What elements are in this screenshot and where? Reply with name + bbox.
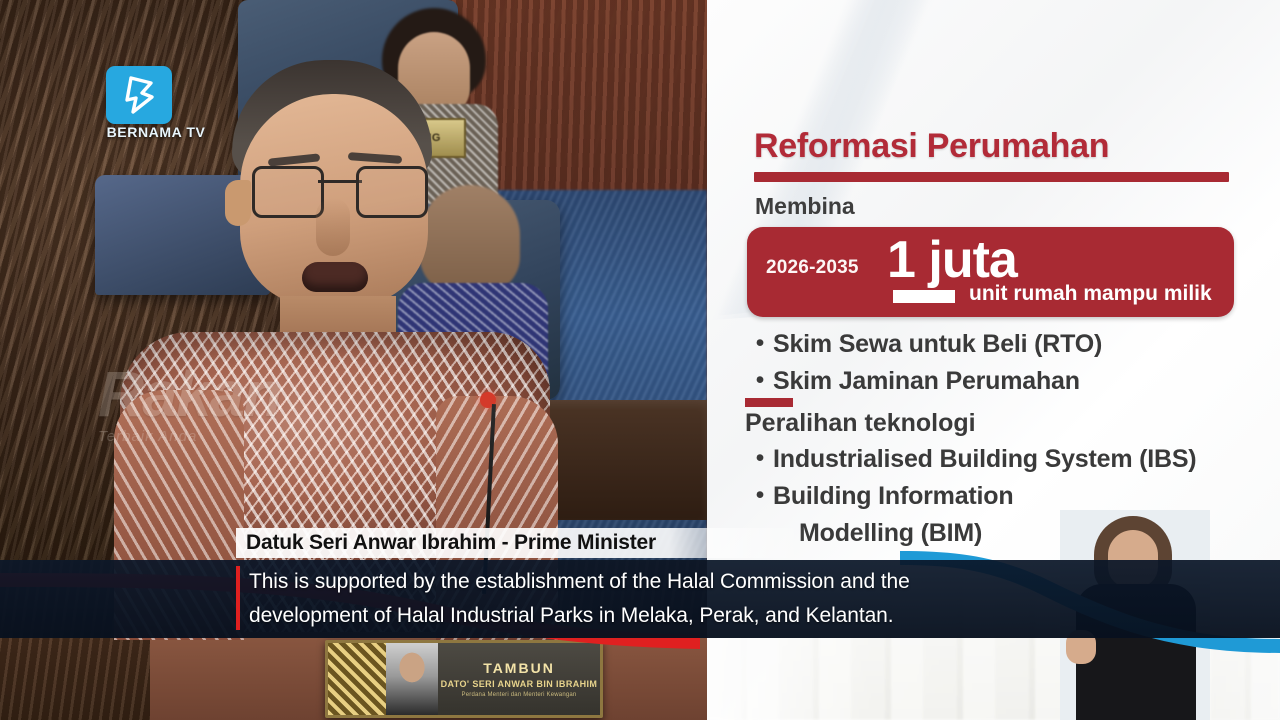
- lens-left: [252, 166, 324, 218]
- subtitle-accent-bar: [236, 566, 240, 630]
- slide-title: Reformasi Perumahan: [754, 127, 1109, 166]
- bullet-text: Skim Jaminan Perumahan: [773, 365, 1080, 398]
- slide-bullet-group-1: • Skim Sewa untuk Beli (RTO) • Skim Jami…: [747, 328, 1267, 402]
- bullet-dot-icon: •: [747, 443, 773, 473]
- housing-target-badge: 2026-2035 1 juta unit rumah mampu milik: [747, 227, 1234, 317]
- subtitle-line-1: This is supported by the establishment o…: [249, 565, 1209, 599]
- badge-year-range: 2026-2035: [766, 257, 859, 279]
- speaker-ear: [225, 180, 251, 226]
- slide-section-heading: Peralihan teknologi: [745, 409, 976, 438]
- lens-right: [356, 166, 428, 218]
- bullet-dot-icon: •: [747, 328, 773, 358]
- nameplate-songket-pattern: [328, 643, 386, 715]
- subtitle-line-2: development of Halal Industrial Parks in…: [249, 599, 1209, 633]
- speaker-name: Datuk Seri Anwar Ibrahim - Prime Ministe…: [236, 531, 656, 555]
- list-item: • Building Information: [747, 480, 1277, 513]
- slide-section-rule: [745, 398, 793, 407]
- badge-caption: unit rumah mampu milik: [969, 282, 1212, 306]
- channel-logo: BERNAMA TV: [98, 66, 214, 144]
- slide-title-underline: [754, 172, 1229, 182]
- list-item: • Industrialised Building System (IBS): [747, 443, 1277, 476]
- bullet-text: Industrialised Building System (IBS): [773, 443, 1196, 476]
- channel-logo-label: BERNAMA TV: [98, 124, 214, 140]
- badge-headline: 1 juta: [887, 234, 1017, 286]
- bullet-text: Building Information: [773, 480, 1013, 513]
- broadcast-screen: ANG Rakan: [0, 0, 1280, 720]
- bullet-text: Skim Sewa untuk Beli (RTO): [773, 328, 1102, 361]
- bullet-dot-icon: •: [747, 480, 773, 510]
- list-item: • Skim Sewa untuk Beli (RTO): [747, 328, 1267, 361]
- nameplate-constituency: TAMBUN: [483, 660, 555, 676]
- nameplate-name: DATO' SERI ANWAR BIN IBRAHIM: [441, 679, 598, 689]
- speaker-nose: [316, 198, 350, 256]
- subtitle-text: This is supported by the establishment o…: [249, 565, 1209, 633]
- desk-nameplate: TAMBUN DATO' SERI ANWAR BIN IBRAHIM Perd…: [325, 640, 603, 718]
- nameplate-text-block: TAMBUN DATO' SERI ANWAR BIN IBRAHIM Perd…: [438, 643, 600, 715]
- bullet-dot-icon: •: [747, 365, 773, 395]
- bernama-b-icon: [106, 66, 172, 124]
- slide-subtitle: Membina: [755, 193, 855, 220]
- list-item: • Skim Jaminan Perumahan: [747, 365, 1267, 398]
- nameplate-role: Perdana Menteri dan Menteri Kewangan: [462, 692, 577, 698]
- speaker-name-banner: Datuk Seri Anwar Ibrahim - Prime Ministe…: [236, 528, 806, 558]
- speaker-mouth: [302, 262, 368, 292]
- badge-underline-mark: [893, 290, 955, 303]
- nameplate-portrait: [386, 643, 438, 715]
